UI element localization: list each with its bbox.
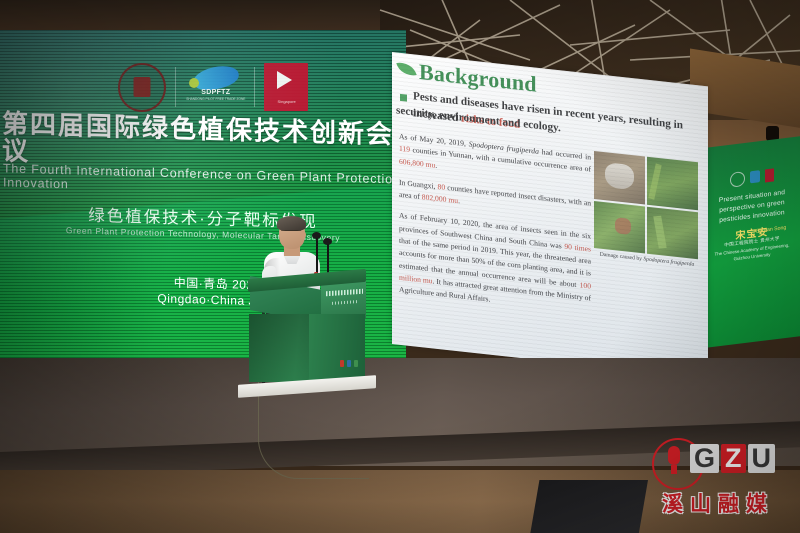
watermark-letter-u: U bbox=[748, 444, 776, 473]
podium-control-lights bbox=[340, 360, 358, 367]
projection-screen: Background Pests and diseases have risen… bbox=[392, 52, 708, 386]
watermark-chinese-label: 溪山融媒 bbox=[662, 488, 774, 518]
presentation-slide: Background Pests and diseases have risen… bbox=[392, 52, 708, 378]
side-singapore-icon bbox=[765, 168, 774, 182]
slide-lead-sep-2: and bbox=[500, 116, 524, 131]
sdpftz-logo-sub: SHANDONG PILOT FREE TRADE ZONE bbox=[185, 97, 247, 101]
slide-paragraph-3: As of February 10, 2020, the area of ins… bbox=[399, 210, 591, 317]
singapore-logo-icon: Singapore bbox=[264, 63, 308, 111]
p1-hl-area: 606,800 mu bbox=[399, 156, 435, 169]
singapore-logo-label: Singapore bbox=[264, 99, 309, 105]
conference-photo-scene: SDPFTZ SHANDONG PILOT FREE TRADE ZONE Si… bbox=[0, 0, 800, 533]
moth-specimen-photo bbox=[594, 151, 645, 204]
slide-lead-end: . bbox=[558, 122, 561, 134]
qingdao-university-seal-icon bbox=[118, 63, 166, 112]
sdpftz-logo-icon: SDPFTZ SHANDONG PILOT FREE TRADE ZONE bbox=[185, 64, 245, 110]
podium-light-green bbox=[354, 360, 358, 367]
p2-c: . bbox=[458, 196, 460, 205]
side-sdpftz-icon bbox=[750, 170, 760, 183]
p2-hl-area: 802,000 mu bbox=[422, 192, 458, 205]
side-seal-icon bbox=[730, 170, 745, 187]
logo-divider bbox=[175, 67, 176, 107]
slide-lead-hl-ecology: ecology bbox=[523, 118, 558, 134]
podium bbox=[248, 274, 366, 392]
logo-divider-2 bbox=[254, 67, 255, 107]
caption-a: Damage caused by bbox=[600, 252, 644, 263]
larva-on-corn-photo bbox=[594, 200, 645, 253]
speaker-glasses-icon bbox=[281, 230, 301, 236]
watermark-letter-z: Z bbox=[721, 444, 746, 473]
slide-lead-hl-security: security bbox=[396, 104, 433, 120]
slide-lead-hl-environment: environment bbox=[439, 109, 500, 128]
p1-d: . bbox=[435, 160, 437, 169]
stage-monitor-speaker bbox=[530, 480, 648, 533]
podium-light-blue bbox=[347, 360, 351, 367]
green-leaf-icon bbox=[396, 60, 416, 78]
banner-text-block: 第四届国际绿色植保技术创新会议 The Fourth International… bbox=[0, 116, 406, 239]
p2-a: In Guangxi, bbox=[399, 178, 438, 191]
p1-hl-counties: 119 bbox=[399, 144, 410, 154]
damaged-corn-leaf-photo-2 bbox=[647, 206, 698, 259]
banner-logo-row: SDPFTZ SHANDONG PILOT FREE TRADE ZONE Si… bbox=[118, 60, 308, 114]
damaged-corn-leaf-photo-1 bbox=[647, 157, 698, 210]
p3-hl-times: 90 times bbox=[564, 242, 591, 254]
slide-photo-grid bbox=[594, 151, 698, 259]
watermark-letters: G Z U bbox=[690, 444, 775, 473]
slide-body-text: As of May 20, 2019, Spodoptera frugiperd… bbox=[399, 131, 591, 326]
podium-body bbox=[249, 314, 365, 382]
broadcaster-watermark: G Z U 溪山融媒 bbox=[648, 432, 796, 524]
sdpftz-logo-label: SDPFTZ bbox=[185, 89, 247, 96]
microphone-icon bbox=[668, 446, 680, 465]
watermark-letter-g: G bbox=[690, 444, 719, 473]
p2-hl-counties: 80 bbox=[438, 182, 446, 192]
podium-light-red bbox=[340, 360, 344, 367]
side-green-panel: Present situation and perspective on gre… bbox=[704, 136, 800, 348]
speaker-hair bbox=[277, 216, 306, 231]
slide-bullet-marker bbox=[400, 94, 407, 102]
